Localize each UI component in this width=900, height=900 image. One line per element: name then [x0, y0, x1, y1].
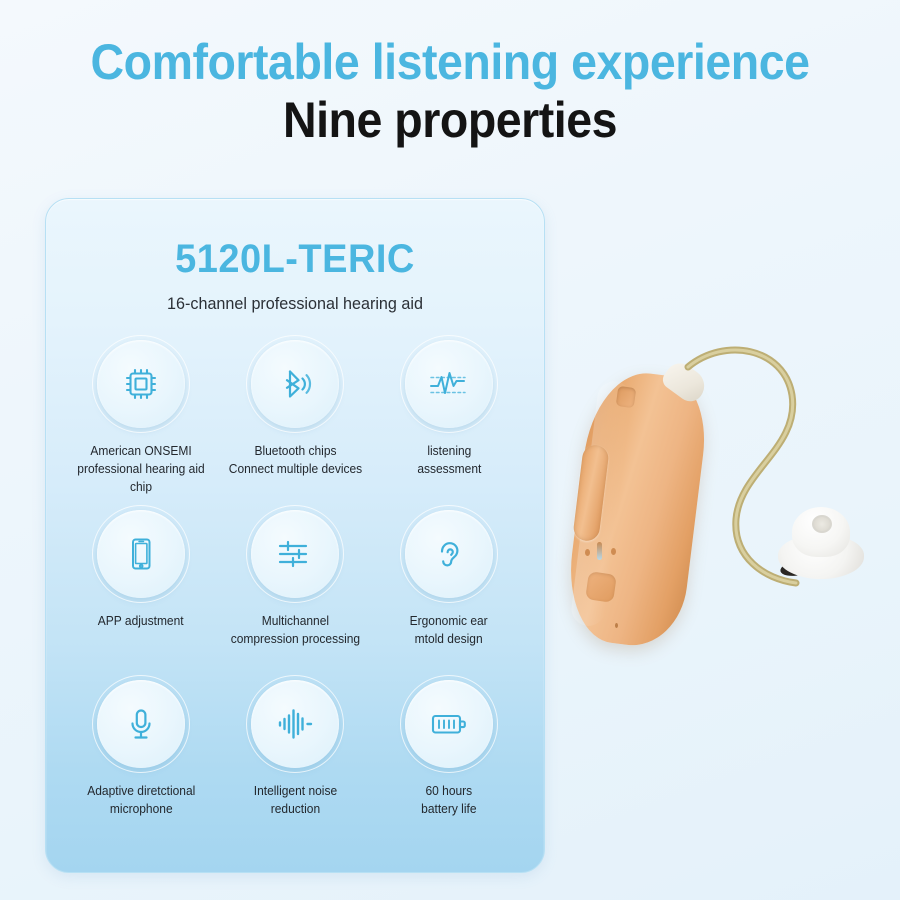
feature-label: Multichannel compression processing — [230, 613, 359, 649]
feature-icon-badge — [251, 510, 339, 598]
feature-label: APP adjustment — [98, 613, 184, 631]
battery-door-button — [585, 571, 617, 603]
waveform-assessment-icon — [427, 364, 471, 404]
microphone-icon — [121, 704, 161, 744]
page-subheadline: Nine properties — [32, 90, 869, 151]
product-model-subtitle: 16-channel professional hearing aid — [58, 294, 531, 314]
ear-icon — [429, 534, 469, 574]
page-headline: Comfortable listening experience — [32, 34, 869, 90]
sound-bars-icon — [273, 704, 317, 744]
page-header: Comfortable listening experience Nine pr… — [0, 34, 900, 151]
feature-icon-badge — [97, 680, 185, 768]
feature-icon-badge — [251, 680, 339, 768]
feature-item-chip[interactable]: American ONSEMI professional hearing aid… — [64, 340, 218, 510]
feature-icon-badge — [97, 510, 185, 598]
ear-hook-tube — [680, 343, 850, 623]
microphone-port-left — [585, 549, 590, 556]
feature-label: Adaptive diretctional microphone — [87, 783, 195, 819]
ear-tip-sound-outlet — [812, 515, 832, 533]
bluetooth-icon — [275, 364, 315, 404]
feature-item-ergonomic-earmold[interactable]: Ergonomic ear mtold design — [372, 510, 526, 680]
feature-label: Ergonomic ear mtold design — [410, 613, 488, 649]
ear-tip-dome — [778, 507, 864, 581]
body-vent-hole — [615, 623, 618, 628]
feature-label: American ONSEMI professional hearing aid… — [67, 443, 215, 496]
feature-grid: American ONSEMI professional hearing aid… — [46, 340, 544, 850]
feature-item-adaptive-microphone[interactable]: Adaptive diretctional microphone — [64, 680, 218, 850]
feature-item-bluetooth[interactable]: Bluetooth chips Connect multiple devices — [218, 340, 372, 510]
feature-item-battery-life[interactable]: 60 hours battery life — [372, 680, 526, 850]
product-model-title: 5120L-TERIC — [58, 237, 531, 282]
feature-icon-badge — [405, 680, 493, 768]
microphone-slit — [597, 542, 602, 560]
bte-hearing-aid-photo — [560, 335, 900, 685]
battery-icon — [427, 704, 471, 744]
feature-label: Intelligent noise reduction — [253, 783, 336, 819]
microphone-port-right — [611, 548, 616, 555]
feature-icon-badge — [405, 340, 493, 428]
feature-item-multichannel-compression[interactable]: Multichannel compression processing — [218, 510, 372, 680]
feature-icon-badge — [97, 340, 185, 428]
feature-item-noise-reduction[interactable]: Intelligent noise reduction — [218, 680, 372, 850]
feature-label: Bluetooth chips Connect multiple devices — [228, 443, 361, 479]
feature-icon-badge — [251, 340, 339, 428]
smartphone-icon — [121, 534, 161, 574]
program-button — [616, 386, 637, 408]
equalizer-sliders-icon — [274, 534, 316, 574]
feature-card: 5120L-TERIC 16-channel professional hear… — [45, 198, 545, 873]
feature-icon-badge — [405, 510, 493, 598]
feature-label: listening assessment — [417, 443, 481, 479]
feature-label: 60 hours battery life — [421, 783, 476, 819]
chip-icon — [121, 364, 161, 404]
feature-item-listening-assessment[interactable]: listening assessment — [372, 340, 526, 510]
feature-item-app-adjustment[interactable]: APP adjustment — [64, 510, 218, 680]
